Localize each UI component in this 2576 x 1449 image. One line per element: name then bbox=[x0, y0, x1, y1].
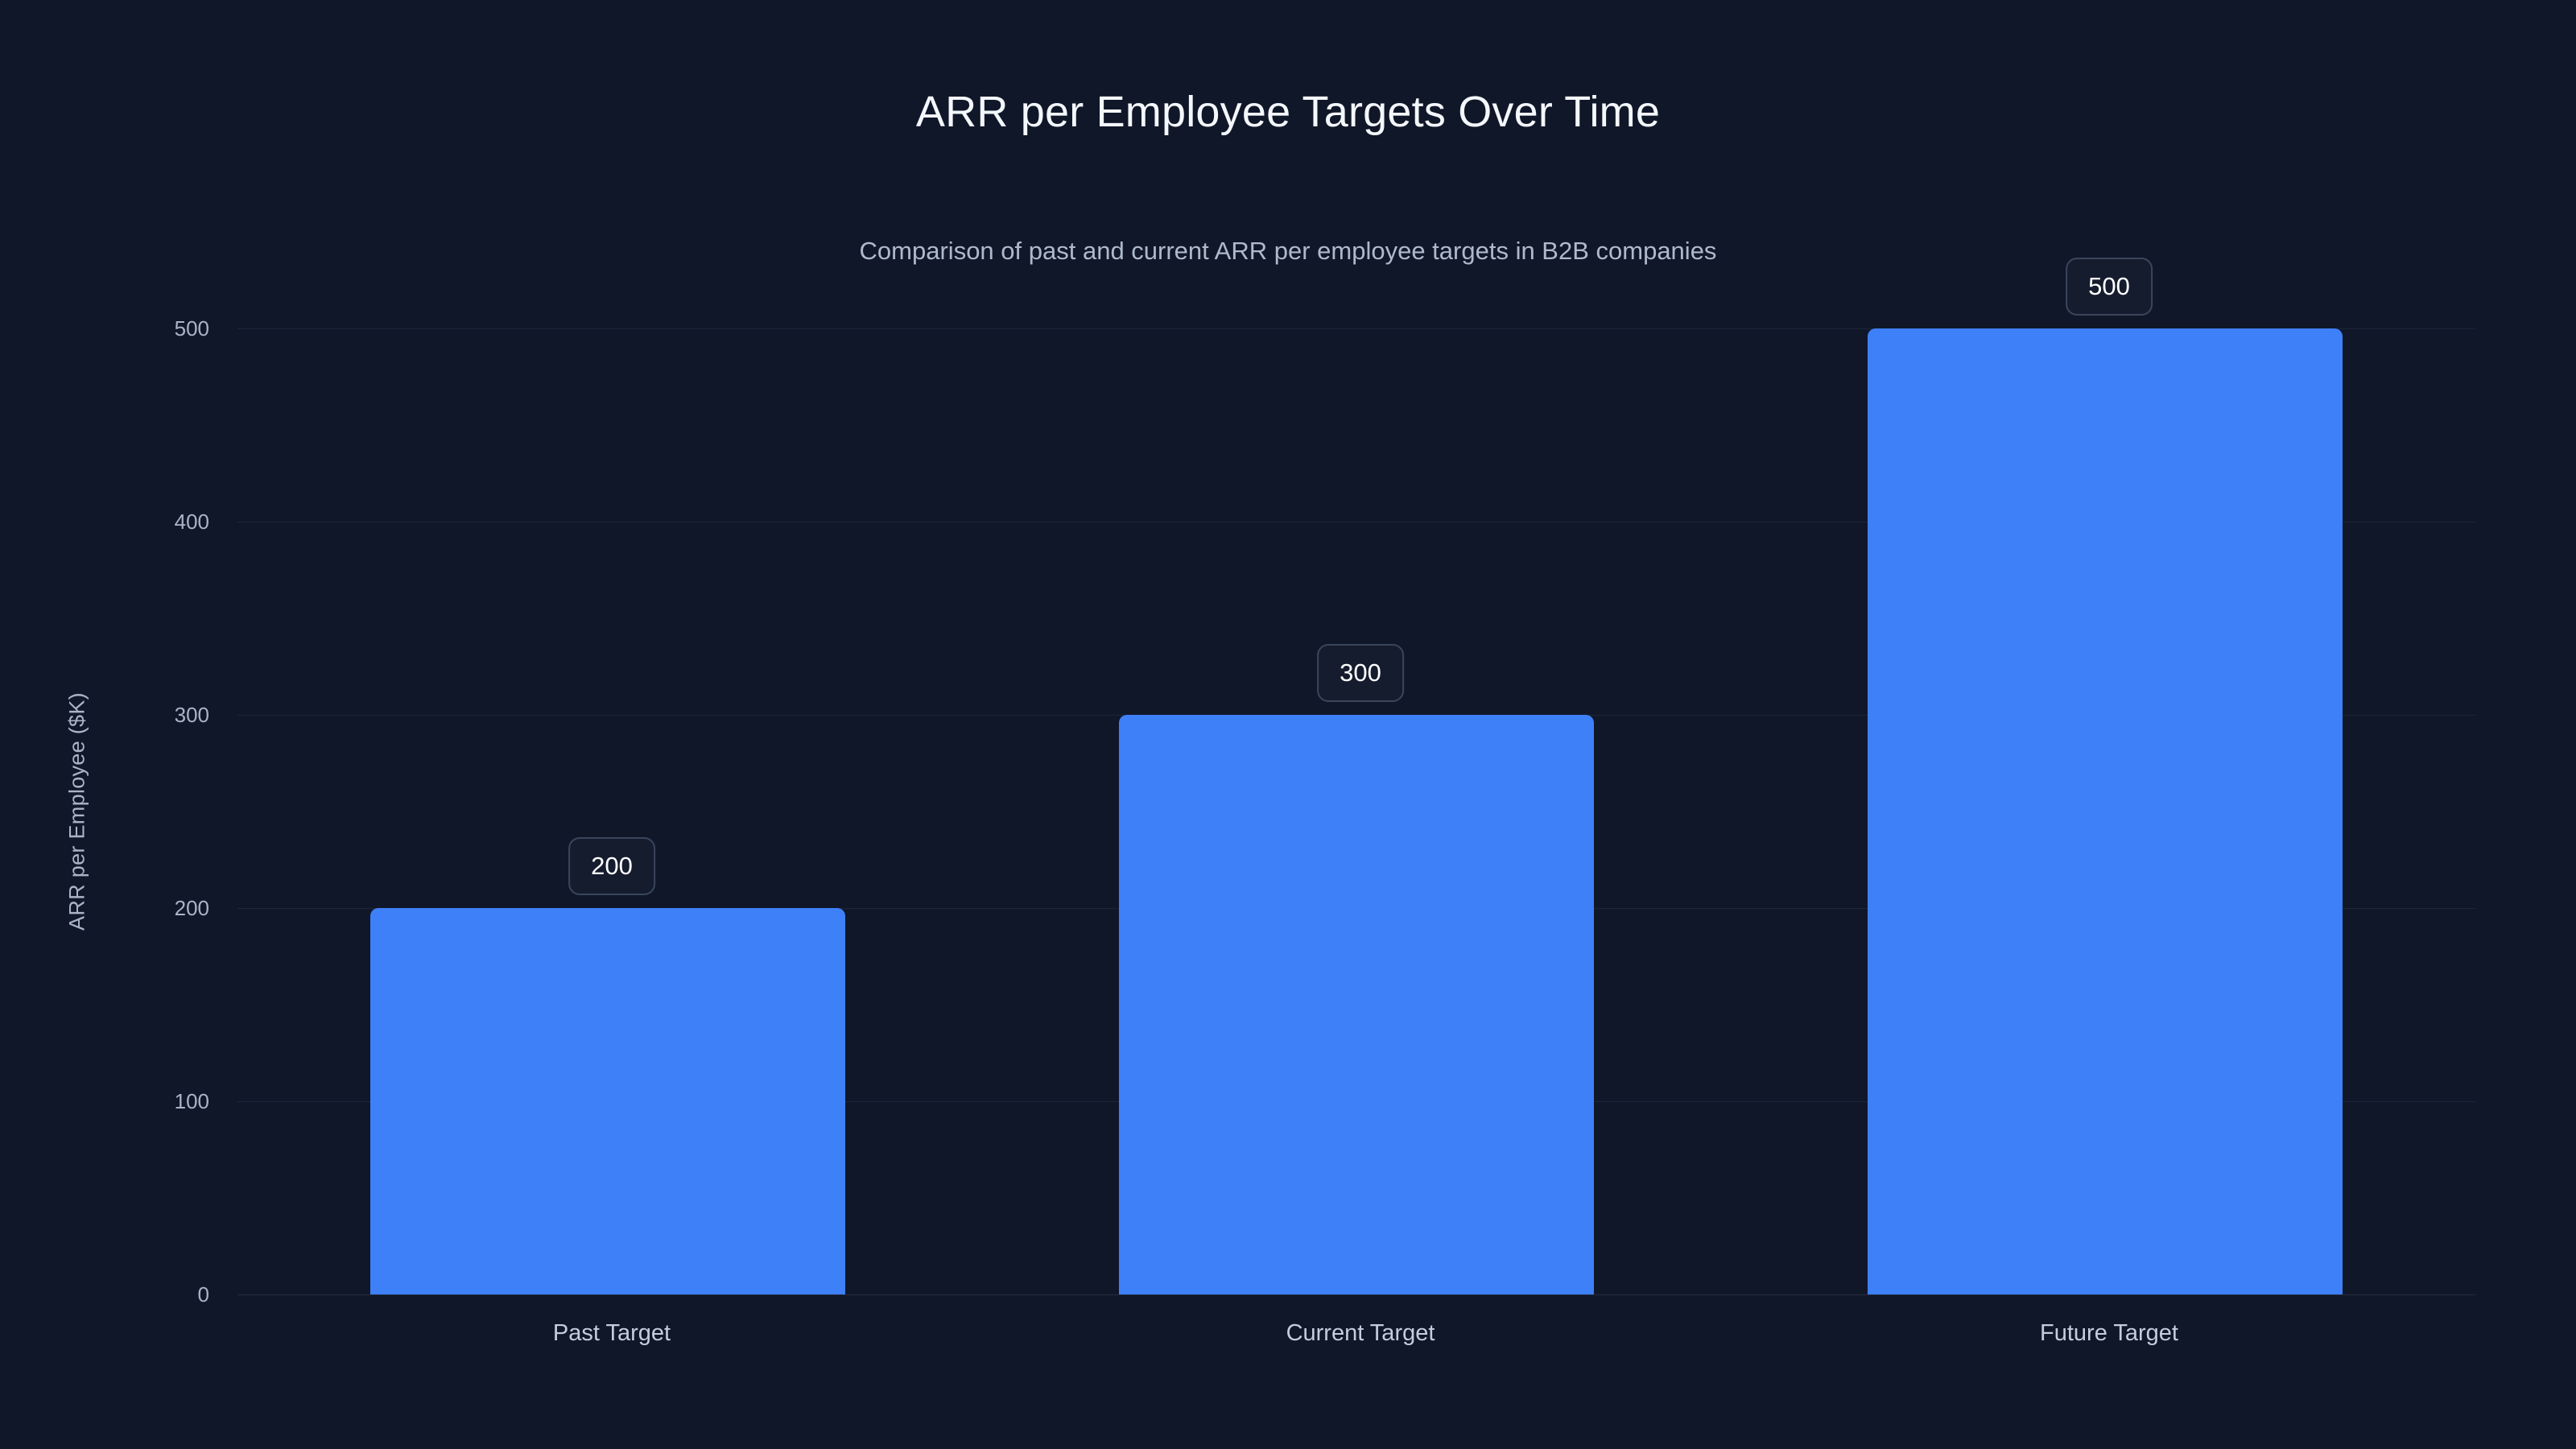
value-badge-future-target: 500 bbox=[2066, 258, 2153, 316]
value-badge-current-target: 300 bbox=[1317, 644, 1404, 702]
bar-past-target[interactable] bbox=[370, 908, 845, 1294]
plot-area bbox=[237, 328, 2475, 1294]
x-tick-label-past-target: Past Target bbox=[553, 1322, 671, 1345]
y-tick-label-400: 400 bbox=[89, 511, 209, 532]
y-tick-label-300: 300 bbox=[89, 704, 209, 725]
value-badge-past-target: 200 bbox=[568, 837, 655, 895]
x-tick-label-future-target: Future Target bbox=[2040, 1322, 2178, 1345]
chart-subtitle: Comparison of past and current ARR per e… bbox=[0, 237, 2576, 265]
y-tick-label-200: 200 bbox=[89, 898, 209, 919]
x-tick-label-current-target: Current Target bbox=[1286, 1322, 1435, 1345]
y-tick-label-0: 0 bbox=[89, 1284, 209, 1305]
chart-container: ARR per Employee Targets Over Time Compa… bbox=[0, 0, 2576, 1449]
y-tick-label-500: 500 bbox=[89, 318, 209, 339]
chart-title: ARR per Employee Targets Over Time bbox=[0, 89, 2576, 136]
bar-future-target[interactable] bbox=[1868, 328, 2343, 1294]
gridline-baseline-0 bbox=[237, 1294, 2475, 1295]
y-tick-label-100: 100 bbox=[89, 1091, 209, 1112]
bar-current-target[interactable] bbox=[1119, 715, 1594, 1294]
y-axis-title: ARR per Employee ($K) bbox=[65, 692, 90, 931]
